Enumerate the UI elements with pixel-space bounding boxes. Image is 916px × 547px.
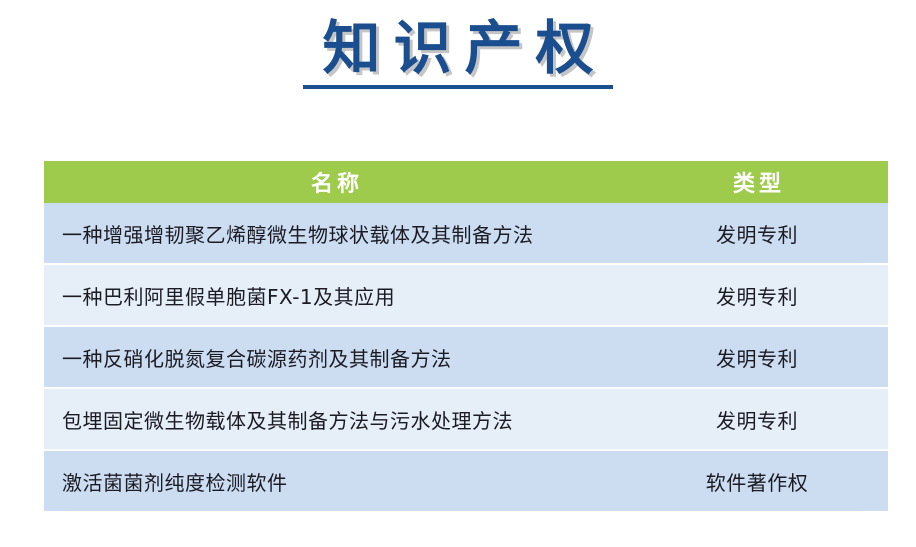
cell-name: 一种增强增韧聚乙烯醇微生物球状载体及其制备方法 (44, 203, 626, 264)
column-header-type: 类型 (626, 161, 888, 203)
table-row: 一种巴利阿里假单胞菌FX-1及其应用 发明专利 (44, 264, 888, 326)
column-header-name: 名称 (44, 161, 626, 203)
cell-name: 一种反硝化脱氮复合碳源药剂及其制备方法 (44, 326, 626, 388)
table-header: 名称 类型 (44, 161, 888, 203)
cell-type: 发明专利 (626, 326, 888, 388)
intellectual-property-table: 名称 类型 一种增强增韧聚乙烯醇微生物球状载体及其制备方法 发明专利 一种巴利阿… (44, 161, 888, 511)
page-title-container: 知识产权 (0, 14, 916, 94)
cell-type: 软件著作权 (626, 450, 888, 511)
table-header-row: 名称 类型 (44, 161, 888, 203)
cell-name: 一种巴利阿里假单胞菌FX-1及其应用 (44, 264, 626, 326)
table-row: 一种增强增韧聚乙烯醇微生物球状载体及其制备方法 发明专利 (44, 203, 888, 264)
table-row: 一种反硝化脱氮复合碳源药剂及其制备方法 发明专利 (44, 326, 888, 388)
table-row: 激活菌菌剂纯度检测软件 软件著作权 (44, 450, 888, 511)
cell-name: 包埋固定微生物载体及其制备方法与污水处理方法 (44, 388, 626, 450)
table-body: 一种增强增韧聚乙烯醇微生物球状载体及其制备方法 发明专利 一种巴利阿里假单胞菌F… (44, 203, 888, 511)
cell-type: 发明专利 (626, 264, 888, 326)
table-row: 包埋固定微生物载体及其制备方法与污水处理方法 发明专利 (44, 388, 888, 450)
cell-type: 发明专利 (626, 388, 888, 450)
cell-name: 激活菌菌剂纯度检测软件 (44, 450, 626, 511)
cell-type: 发明专利 (626, 203, 888, 264)
page-title: 知识产权 (303, 19, 612, 89)
